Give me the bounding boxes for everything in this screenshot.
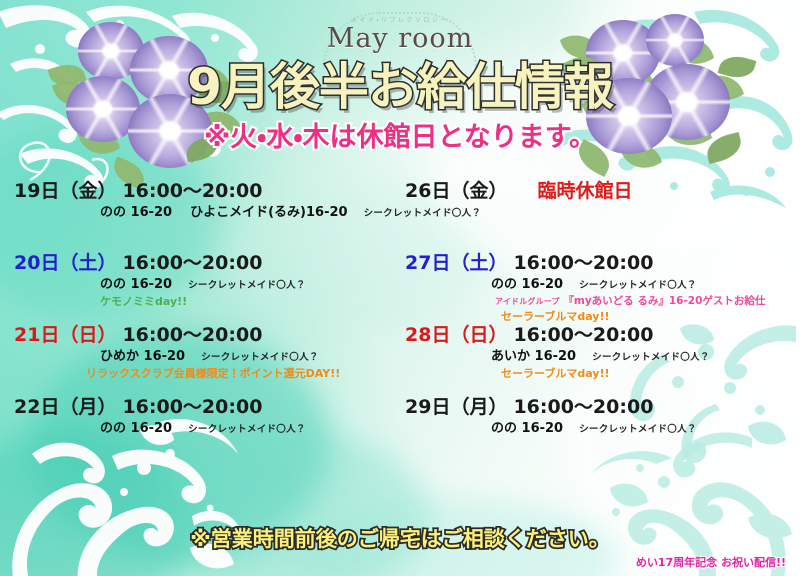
entry-heading: 21日（日）16:00〜20:00 (14, 324, 409, 346)
schedule-entry: 29日（月）16:00〜20:00 のの 16-20シークレットメイド〇人？ (405, 396, 800, 468)
entry-secret-note: シークレットメイド〇人？ (188, 424, 306, 435)
entry-date: 19日（金） (14, 180, 116, 202)
entry-cast: のの 16-20 (491, 421, 563, 436)
page-title: 9月後半お給仕情報 (0, 62, 800, 112)
entry-cast-line: のの 16-20シークレットメイド〇人？ (491, 276, 800, 293)
entry-cast-line: のの 16-20シークレットメイド〇人？ (100, 420, 409, 437)
entry-cast-line: あいか 16-20シークレットメイド〇人？ (491, 348, 800, 365)
brand-logo: メイド・リフレクソロジー May room (0, 18, 800, 53)
entry-cast: のの 16-20 (100, 205, 172, 220)
entry-cast-line: のの 16-20ひよこメイド(るみ)16-20シークレットメイド〇人？ (100, 204, 409, 221)
entry-cast: のの 16-20 (100, 421, 172, 436)
schedule-entry: 21日（日）16:00〜20:00 ひめか 16-20シークレットメイド〇人？ … (14, 324, 409, 396)
entry-cast-line: ひめか 16-20シークレットメイド〇人？ (100, 348, 409, 365)
schedule-entry: 28日（日）16:00〜20:00 あいか 16-20シークレットメイド〇人？ … (405, 324, 800, 396)
entry-date: 27日（土） (405, 252, 507, 274)
entry-time: 16:00〜20:00 (513, 324, 653, 346)
entry-heading: 27日（土）16:00〜20:00 (405, 252, 800, 274)
entry-time: 16:00〜20:00 (122, 252, 262, 274)
entry-cast-extra: ひよこメイド(るみ)16-20 (190, 205, 347, 220)
schedule-columns: 19日（金）16:00〜20:00 のの 16-20ひよこメイド(るみ)16-2… (0, 180, 800, 470)
entry-time: 16:00〜20:00 (122, 324, 262, 346)
entry-date: 22日（月） (14, 396, 116, 418)
entry-heading: 19日（金）16:00〜20:00 (14, 180, 409, 202)
closed-days-subtitle: ※火・水・木は休館日となります。 (0, 124, 800, 151)
schedule-entry: 26日（金）臨時休館日 (405, 180, 800, 252)
footer-message: ※営業時間前後のご帰宅はご相談ください。 (0, 529, 800, 550)
schedule-entry: 20日（土）16:00〜20:00 のの 16-20シークレットメイド〇人？ ケ… (14, 252, 409, 324)
entry-event: リラックスクラブ会員様限定！ポイント還元DAY!! (86, 367, 409, 380)
entry-heading: 28日（日）16:00〜20:00 (405, 324, 800, 346)
entry-time: 16:00〜20:00 (513, 252, 653, 274)
schedule-column-right: 26日（金）臨時休館日 27日（土）16:00〜20:00 のの 16-20シー… (405, 180, 800, 468)
entry-event: セーラーブルマday!! (501, 367, 800, 380)
entry-guest-line: アイドルグループ 『myあいどる るみ』16-20ゲストお給仕 (495, 295, 800, 308)
entry-date: 21日（日） (14, 324, 116, 346)
footer-anniversary-note: めい17周年記念 お祝い配信!! (636, 557, 786, 568)
entry-secret-note: シークレットメイド〇人？ (201, 352, 319, 363)
entry-cast: あいか 16-20 (491, 349, 576, 364)
closed-notice: 臨時休館日 (537, 180, 632, 202)
entry-date: 29日（月） (405, 396, 507, 418)
entry-event: ケモノミミday!! (100, 295, 409, 308)
entry-heading: 29日（月）16:00〜20:00 (405, 396, 800, 418)
entry-guest: 『myあいどる るみ』16-20ゲストお給仕 (563, 295, 765, 307)
entry-cast-line: のの 16-20シークレットメイド〇人？ (491, 420, 800, 437)
entry-guest-prefix: アイドルグループ (495, 297, 560, 306)
entry-event: セーラーブルマday!! (501, 310, 800, 323)
entry-time: 16:00〜20:00 (122, 396, 262, 418)
entry-heading: 20日（土）16:00〜20:00 (14, 252, 409, 274)
schedule-poster: メイド・リフレクソロジー May room 9月後半お給仕情報 ※火・水・木は休… (0, 0, 800, 576)
entry-time: 16:00〜20:00 (122, 180, 262, 202)
entry-date: 26日（金） (405, 180, 507, 202)
entry-date: 20日（土） (14, 252, 116, 274)
entry-cast: のの 16-20 (491, 277, 563, 292)
entry-cast: ひめか 16-20 (100, 349, 185, 364)
entry-time: 16:00〜20:00 (513, 396, 653, 418)
schedule-entry: 22日（月）16:00〜20:00 のの 16-20シークレットメイド〇人？ (14, 396, 409, 468)
entry-secret-note: シークレットメイド〇人？ (592, 352, 710, 363)
entry-cast: のの 16-20 (100, 277, 172, 292)
logo-wordmark: May room (0, 25, 800, 53)
entry-heading: 26日（金）臨時休館日 (405, 180, 800, 202)
entry-secret-note: シークレットメイド〇人？ (579, 424, 697, 435)
entry-heading: 22日（月）16:00〜20:00 (14, 396, 409, 418)
schedule-entry: 27日（土）16:00〜20:00 のの 16-20シークレットメイド〇人？ ア… (405, 252, 800, 324)
schedule-entry: 19日（金）16:00〜20:00 のの 16-20ひよこメイド(るみ)16-2… (14, 180, 409, 252)
entry-date: 28日（日） (405, 324, 507, 346)
entry-cast-line: のの 16-20シークレットメイド〇人？ (100, 276, 409, 293)
entry-secret-note: シークレットメイド〇人？ (188, 280, 306, 291)
schedule-column-left: 19日（金）16:00〜20:00 のの 16-20ひよこメイド(るみ)16-2… (14, 180, 409, 468)
entry-secret-note: シークレットメイド〇人？ (579, 280, 697, 291)
